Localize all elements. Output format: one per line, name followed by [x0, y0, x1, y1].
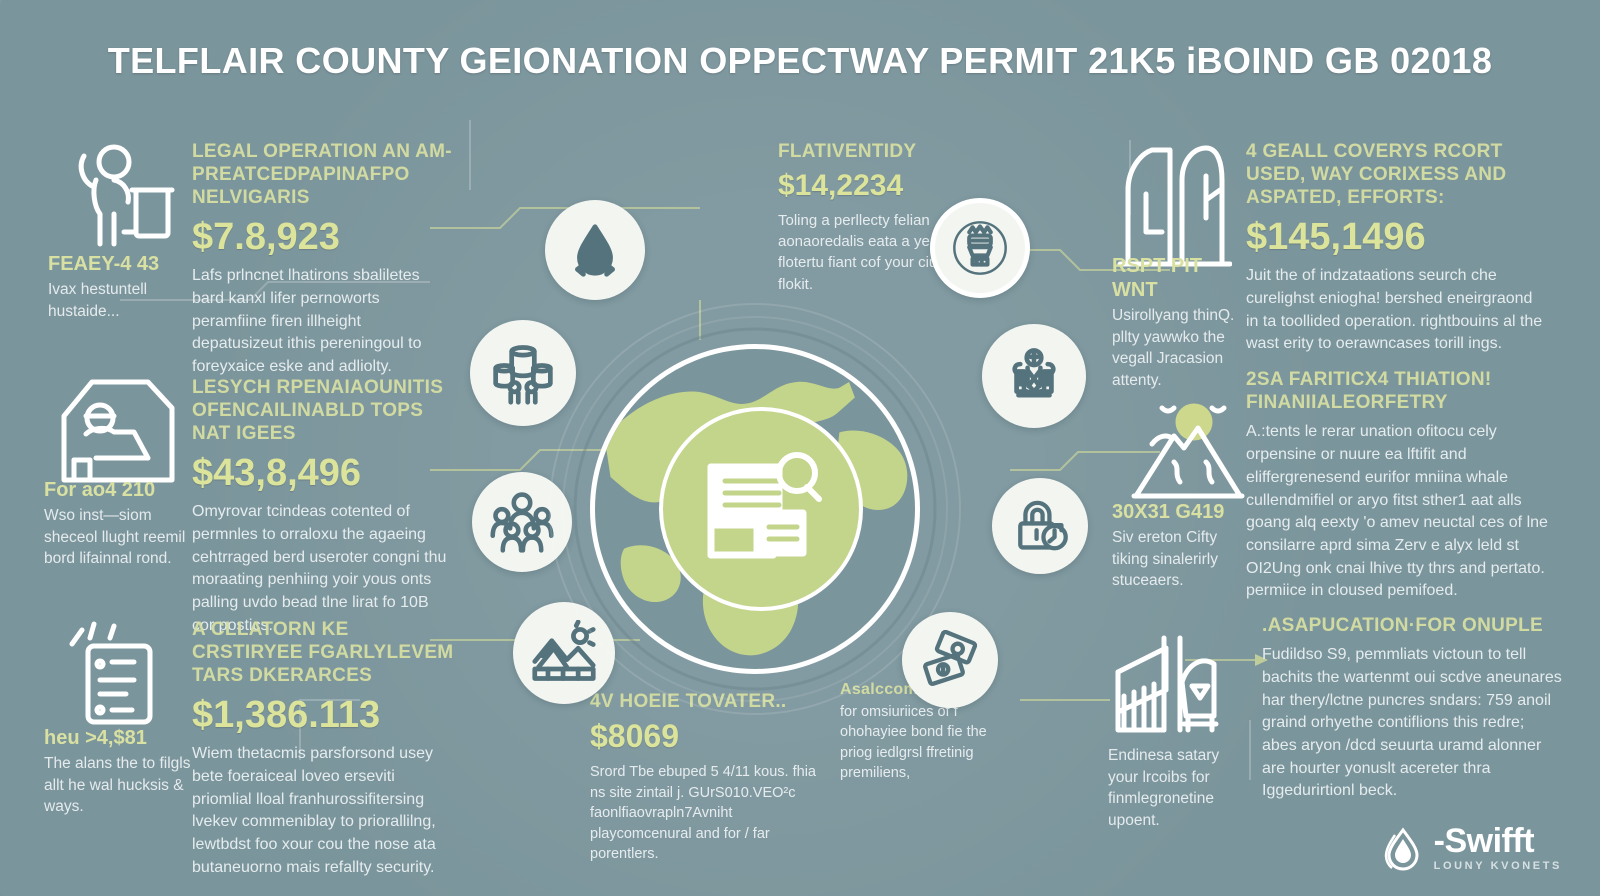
- right-stat-3-caption: Endinesa satary your lrcoibs for finmleg…: [1108, 742, 1248, 832]
- right-stat-1-caption: RSPT PIT WNT Usirollyang thinQ. pllty ya…: [1112, 254, 1252, 392]
- caption-text: Siv ereton Cifty tiking sinalerirly stuc…: [1112, 527, 1252, 592]
- left-stat-1-caption: FEAEY-4 43 Ivax hestuntell hustaide...: [48, 252, 198, 322]
- caption-value: heu >4,$81: [44, 726, 194, 750]
- left-stat-1: LEGAL OPERATION AN AM-PREATCEDPAPINAFPO …: [192, 140, 454, 379]
- stat-body: Omyrovar tcindeas cotented of permnles t…: [192, 501, 454, 637]
- left-stat-2-caption: For ao4 210 Wso inst—siom sheceol llught…: [44, 478, 194, 570]
- stat-body: Wiem thetacmis parsforsond usey bete foe…: [192, 743, 454, 879]
- right-stat-2-caption: 30X31 G419 Siv ereton Cifty tiking sinal…: [1112, 500, 1252, 592]
- stat-body: Srord Tbe ebuped 5 4/11 kous. fhia ns si…: [590, 762, 830, 865]
- person-with-bin-icon: [58, 140, 178, 260]
- stat-body: Fudildso S9, pemmliats victoun to tell b…: [1262, 644, 1562, 803]
- logo-tagline: LOUNY KVONETS: [1434, 861, 1562, 872]
- two-people-icon: [1112, 140, 1232, 270]
- right-stat-2: 2SA FARITICX4 THIATION! FINANIIALEORFETR…: [1246, 368, 1556, 603]
- stat-body: A.:tents le rerar unation ofitocu cely o…: [1246, 421, 1556, 603]
- stat-heading: 2SA FARITICX4 THIATION! FINANIIALEORFETR…: [1246, 368, 1556, 414]
- caption-text: Endinesa satary your lrcoibs for finmleg…: [1108, 745, 1248, 832]
- caption-text: Usirollyang thinQ. pllty yawwko the vega…: [1112, 305, 1252, 392]
- right-stat-3: .ASAPUCATION·FOR ONUPLE Fudildso S9, pem…: [1262, 614, 1562, 803]
- seal-stamp-icon[interactable]: [930, 198, 1030, 298]
- stat-heading: FLATIVENTIDY: [778, 140, 968, 163]
- padlock-clock-icon[interactable]: [992, 478, 1088, 574]
- caption-value: For ao4 210: [44, 478, 194, 502]
- globe-with-permit-document: [590, 344, 920, 674]
- stat-value: $145,1496: [1246, 216, 1546, 259]
- left-stat-3: A CLLATORN KE CRSTIRYEE FGARLYLEVEM TARS…: [192, 618, 454, 879]
- stat-heading: 4 GEALL COVERYS RCORT USED, WAY CORIXESS…: [1246, 140, 1546, 210]
- caption-value: 30X31 G419: [1112, 500, 1252, 524]
- stat-value: $43,8,496: [192, 452, 454, 495]
- stat-heading: LESYCH RPENAIAOUNITIS OFENCAILINABLD TOP…: [192, 376, 454, 446]
- logo-name: -Swifft: [1434, 824, 1562, 858]
- page-title: TELFLAIR COUNTY GEIONATION OPPECTWAY PER…: [0, 40, 1600, 82]
- left-stat-3-caption: heu >4,$81 The alans the to filgls allt …: [44, 726, 194, 818]
- stat-value: $1,386.113: [192, 694, 454, 737]
- stat-heading: A CLLATORN KE CRSTIRYEE FGARLYLEVEM TARS…: [192, 618, 454, 688]
- right-stat-1: 4 GEALL COVERYS RCORT USED, WAY CORIXESS…: [1246, 140, 1546, 356]
- document-tablet-icon: [62, 618, 172, 728]
- water-drop-icon[interactable]: [545, 200, 645, 300]
- caption-text: The alans the to filgls allt he wal huck…: [44, 753, 194, 818]
- stat-value: $7.8,923: [192, 216, 454, 259]
- stat-value: $8069: [590, 719, 830, 755]
- stat-body: Lafs prlncnet lhatirons sbaliletes bard …: [192, 265, 454, 379]
- caption-text: Ivax hestuntell hustaide...: [48, 279, 198, 322]
- caption-value: RSPT PIT WNT: [1112, 254, 1252, 302]
- stat-heading: LEGAL OPERATION AN AM-PREATCEDPAPINAFPO …: [192, 140, 454, 210]
- globe: [590, 344, 920, 674]
- globe-inner-disc: [659, 407, 863, 611]
- mountain-sun-icon: [1128, 400, 1248, 510]
- water-drop-swoosh-icon: [1380, 825, 1426, 871]
- house-and-container-icon: [1110, 630, 1230, 740]
- stat-heading: .ASAPUCATION·FOR ONUPLE: [1262, 614, 1562, 637]
- stat-body: Juit the of indzataations seurch che cur…: [1246, 265, 1546, 356]
- left-stat-2: LESYCH RPENAIAOUNITIS OFENCAILINABLD TOP…: [192, 376, 454, 637]
- caption-value: FEAEY-4 43: [48, 252, 198, 276]
- crest-emblem-icon[interactable]: [982, 324, 1086, 428]
- brand-logo: -Swifft LOUNY KVONETS: [1380, 824, 1562, 872]
- stat-value: $14,2234: [778, 169, 968, 203]
- caption-text: Wso inst—siom sheceol llught reemil bord…: [44, 505, 194, 570]
- document-magnifier-icon: [697, 449, 825, 569]
